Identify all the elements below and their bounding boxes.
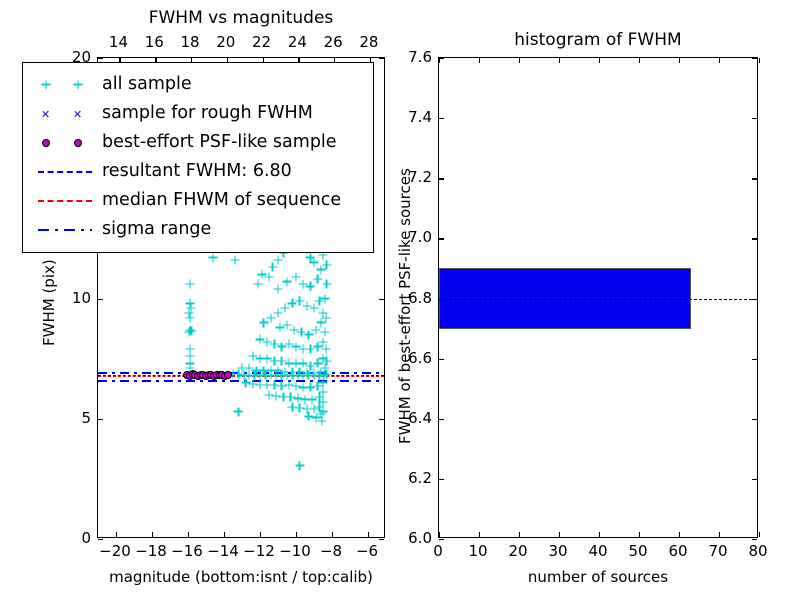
figure-canvas: FWHM vs magnitudes magnitude (bottom:isn… — [0, 0, 800, 600]
left-x-tick — [152, 532, 153, 537]
right-y-tick-label: 6.6 — [388, 349, 432, 367]
legend-entry-label: median FHWM of sequence — [102, 192, 341, 210]
all-sample-point — [265, 272, 274, 281]
right-y-tick-label: 6.4 — [388, 409, 432, 427]
left-median-fhwm-of-sequence-line — [98, 376, 384, 377]
left-x-tick-label: −16 — [171, 542, 203, 560]
all-sample-point — [317, 409, 326, 418]
legend-dashed-line-icon — [38, 200, 92, 202]
all-sample-point — [313, 382, 322, 391]
legend-entry-label: sigma range — [102, 221, 211, 239]
all-sample-point — [184, 328, 193, 337]
all-sample-point — [184, 308, 193, 317]
right-x-tick-top — [679, 58, 680, 63]
all-sample-point — [320, 328, 329, 337]
right-y-tick-right — [752, 539, 757, 540]
right-x-tick — [639, 532, 640, 537]
all-sample-point — [310, 405, 319, 414]
left-y-tick-right — [379, 539, 384, 540]
legend-x-icon — [42, 110, 50, 118]
right-y-tick-right — [752, 178, 757, 179]
all-sample-point — [277, 342, 286, 351]
all-sample-point — [266, 313, 275, 322]
right-y-tick-label: 7.4 — [388, 108, 432, 126]
left-x-tick-label: −12 — [243, 542, 275, 560]
left-x-tick — [224, 532, 225, 537]
legend-handle — [32, 133, 96, 153]
legend-entry: best-effort PSF-like sample — [32, 128, 364, 157]
right-y-tick — [439, 118, 444, 119]
left-x-tick-label: −6 — [356, 542, 378, 560]
right-y-tick-right — [752, 299, 757, 300]
left-x-tick-label: −10 — [279, 542, 311, 560]
histogram-median-line — [439, 299, 757, 300]
right-y-tick — [439, 299, 444, 300]
right-x-tick-label: 20 — [508, 542, 527, 560]
all-sample-point — [302, 405, 311, 414]
right-x-tick — [599, 532, 600, 537]
legend-entry: median FHWM of sequence — [32, 186, 364, 215]
right-x-tick-label: 10 — [468, 542, 487, 560]
all-sample-point — [256, 381, 265, 390]
all-sample-point — [313, 342, 322, 351]
legend-dashdot-line-icon — [38, 229, 92, 231]
right-x-tick — [439, 532, 440, 537]
right-y-tick — [439, 539, 444, 540]
all-sample-point — [306, 253, 315, 262]
legend-handle — [32, 75, 96, 95]
all-sample-point — [292, 382, 301, 391]
all-sample-point — [319, 337, 328, 346]
right-y-tick — [439, 479, 444, 480]
all-sample-point — [185, 280, 194, 289]
right-y-tick-right — [752, 479, 757, 480]
all-sample-point — [297, 328, 306, 337]
all-sample-point — [315, 296, 324, 305]
all-sample-point — [263, 337, 272, 346]
all-sample-point — [322, 260, 331, 269]
all-sample-point — [321, 313, 330, 322]
all-sample-point — [270, 357, 279, 366]
left-y-tick — [98, 419, 103, 420]
right-y-tick — [439, 419, 444, 420]
left-x-tick — [188, 532, 189, 537]
left-top-x-tick-label: 26 — [324, 33, 343, 51]
right-y-tick-right — [752, 58, 757, 59]
all-sample-point — [293, 394, 302, 403]
all-sample-point — [274, 308, 283, 317]
left-y-tick — [98, 539, 103, 540]
left-top-x-tick-label: 22 — [252, 33, 271, 51]
all-sample-point — [295, 403, 304, 412]
all-sample-point — [284, 381, 293, 390]
all-sample-point — [299, 280, 308, 289]
legend-handle — [32, 162, 96, 182]
all-sample-point — [321, 345, 330, 354]
all-sample-point — [284, 340, 293, 349]
histogram-of-fwhm-axes — [438, 57, 758, 538]
all-sample-point — [292, 342, 301, 351]
left-plot-title: FWHM vs magnitudes — [97, 8, 385, 28]
left-top-x-tick-label: 28 — [359, 33, 378, 51]
left-y-tick — [98, 299, 103, 300]
all-sample-point — [311, 325, 320, 334]
all-sample-point — [295, 461, 304, 470]
all-sample-point — [270, 381, 279, 390]
all-sample-point — [320, 294, 329, 303]
all-sample-point — [319, 407, 328, 416]
left-y-tick-label: 10 — [51, 289, 91, 307]
all-sample-point — [319, 354, 328, 363]
right-y-tick — [439, 178, 444, 179]
right-y-tick-right — [752, 359, 757, 360]
right-y-tick-label: 7.6 — [388, 48, 432, 66]
right-y-tick — [439, 58, 444, 59]
all-sample-point — [315, 393, 324, 402]
right-x-tick-top — [759, 58, 760, 63]
right-x-tick — [679, 532, 680, 537]
all-sample-point — [230, 256, 239, 265]
right-x-axis-label: number of sources — [438, 568, 758, 586]
right-x-tick-top — [479, 58, 480, 63]
all-sample-point — [186, 304, 195, 313]
left-x-tick-label: −8 — [320, 542, 342, 560]
legend-entry-label: best-effort PSF-like sample — [102, 134, 337, 152]
left-x-tick-label: −20 — [99, 542, 131, 560]
left-y-tick-label: 5 — [51, 409, 91, 427]
all-sample-point — [313, 359, 322, 368]
all-sample-point — [292, 272, 301, 281]
left-top-x-tick-label: 18 — [180, 33, 199, 51]
right-x-tick — [479, 532, 480, 537]
legend-entry: sigma range — [32, 215, 364, 244]
left-sigma-range-lower-line — [98, 380, 384, 382]
all-sample-point — [275, 323, 284, 332]
all-sample-point — [248, 352, 257, 361]
right-y-tick-right — [752, 419, 757, 420]
left-top-x-tick-label: 14 — [109, 33, 128, 51]
all-sample-point — [185, 313, 194, 322]
all-sample-point — [263, 354, 272, 363]
all-sample-point — [185, 345, 194, 354]
all-sample-point — [185, 325, 194, 334]
left-x-tick — [296, 532, 297, 537]
all-sample-point — [286, 393, 295, 402]
all-sample-point — [310, 258, 319, 267]
right-x-tick-label: 0 — [433, 542, 443, 560]
legend-entry: sample for rough FWHM — [32, 99, 364, 128]
left-x-tick-label: −14 — [207, 542, 239, 560]
all-sample-point — [265, 390, 274, 399]
all-sample-point — [185, 352, 194, 361]
all-sample-point — [306, 282, 315, 291]
right-x-tick-top — [599, 58, 600, 63]
all-sample-point — [284, 359, 293, 368]
all-sample-point — [319, 397, 328, 406]
all-sample-point — [306, 345, 315, 354]
all-sample-point — [290, 325, 299, 334]
all-sample-point — [322, 280, 331, 289]
all-sample-point — [256, 354, 265, 363]
right-y-tick-label: 6.0 — [388, 529, 432, 547]
left-top-x-tick-label: 24 — [288, 33, 307, 51]
left-x-tick — [332, 532, 333, 537]
all-sample-point — [187, 326, 196, 335]
right-plot-title: histogram of FWHM — [438, 30, 758, 50]
legend-entry: all sample — [32, 70, 364, 99]
all-sample-point — [185, 359, 194, 368]
left-y-tick-right — [379, 419, 384, 420]
right-y-tick-label: 6.8 — [388, 289, 432, 307]
all-sample-point — [311, 413, 320, 422]
all-sample-point — [315, 402, 324, 411]
right-y-tick — [439, 359, 444, 360]
all-sample-point — [259, 318, 268, 327]
right-x-tick-label: 50 — [628, 542, 647, 560]
legend-plus-icon — [74, 80, 83, 89]
all-sample-point — [301, 395, 310, 404]
all-sample-point — [322, 357, 331, 366]
left-y-tick-right — [379, 58, 384, 59]
left-top-x-tick-label: 20 — [216, 33, 235, 51]
left-x-tick-label: −18 — [135, 542, 167, 560]
all-sample-point — [283, 277, 292, 286]
right-x-tick — [519, 532, 520, 537]
legend-dot-icon — [42, 139, 50, 147]
all-sample-point — [319, 308, 328, 317]
right-x-tick-label: 70 — [708, 542, 727, 560]
all-sample-point — [185, 299, 194, 308]
all-sample-point — [209, 253, 218, 262]
left-x-tick — [260, 532, 261, 537]
left-x-axis-label: magnitude (bottom:isnt / top:calib) — [97, 568, 385, 586]
right-y-tick-right — [752, 238, 757, 239]
left-x-tick — [116, 532, 117, 537]
right-x-tick — [559, 532, 560, 537]
all-sample-point — [283, 320, 292, 329]
right-x-tick-top — [519, 58, 520, 63]
left-y-tick — [98, 58, 103, 59]
legend-entry: resultant FWHM: 6.80 — [32, 157, 364, 186]
legend-box: all samplesample for rough FWHMbest-effo… — [22, 62, 374, 253]
left-y-tick-label: 0 — [51, 529, 91, 547]
right-y-tick — [439, 238, 444, 239]
all-sample-point — [299, 359, 308, 368]
all-sample-point — [304, 412, 313, 421]
all-sample-point — [302, 301, 311, 310]
all-sample-point — [263, 381, 272, 390]
all-sample-point — [274, 284, 283, 293]
all-sample-point — [268, 263, 277, 272]
left-top-x-tick-label: 16 — [145, 33, 164, 51]
all-sample-point — [256, 335, 265, 344]
right-x-tick — [719, 532, 720, 537]
right-x-tick-top — [639, 58, 640, 63]
legend-entry-label: sample for rough FWHM — [102, 105, 313, 123]
all-sample-point — [288, 402, 297, 411]
all-sample-point — [254, 280, 263, 289]
right-x-tick-top — [719, 58, 720, 63]
legend-dashed-line-icon — [38, 171, 92, 173]
legend-entry-label: resultant FWHM: 6.80 — [102, 163, 292, 181]
legend-handle — [32, 104, 96, 124]
legend-plus-icon — [42, 80, 51, 89]
all-sample-point — [274, 256, 283, 265]
all-sample-point — [317, 265, 326, 274]
all-sample-point — [277, 382, 286, 391]
left-x-tick — [368, 532, 369, 537]
all-sample-point — [257, 270, 266, 279]
all-sample-point — [234, 407, 243, 416]
left-sigma-range-upper-line — [98, 372, 384, 374]
right-x-tick-label: 60 — [668, 542, 687, 560]
all-sample-point — [313, 275, 322, 284]
all-sample-point — [306, 383, 315, 392]
right-x-tick-top — [559, 58, 560, 63]
right-x-tick-label: 30 — [548, 542, 567, 560]
legend-dot-icon — [74, 139, 82, 147]
right-x-tick-label: 40 — [588, 542, 607, 560]
all-sample-point — [272, 391, 281, 400]
right-y-tick-label: 6.2 — [388, 469, 432, 487]
all-sample-point — [310, 304, 319, 313]
right-y-tick-label: 7.2 — [388, 168, 432, 186]
all-sample-point — [319, 388, 328, 397]
legend-handle — [32, 220, 96, 240]
right-x-tick — [759, 532, 760, 537]
all-sample-point — [288, 299, 297, 308]
all-sample-point — [318, 417, 327, 426]
all-sample-point — [299, 383, 308, 392]
legend-x-icon — [74, 110, 82, 118]
right-plot-data-area — [439, 58, 757, 537]
all-sample-point — [306, 361, 315, 370]
legend-entry-label: all sample — [102, 76, 192, 94]
all-sample-point — [317, 318, 326, 327]
all-sample-point — [299, 345, 308, 354]
all-sample-point — [279, 393, 288, 402]
right-y-tick-right — [752, 118, 757, 119]
right-x-tick-label: 80 — [748, 542, 767, 560]
all-sample-point — [295, 296, 304, 305]
right-y-tick-label: 7.0 — [388, 228, 432, 246]
all-sample-point — [270, 340, 279, 349]
all-sample-point — [281, 304, 290, 313]
all-sample-point — [292, 359, 301, 368]
all-sample-point — [308, 395, 317, 404]
left-y-tick-right — [379, 299, 384, 300]
all-sample-point — [277, 357, 286, 366]
legend-handle — [32, 191, 96, 211]
all-sample-point — [304, 330, 313, 339]
